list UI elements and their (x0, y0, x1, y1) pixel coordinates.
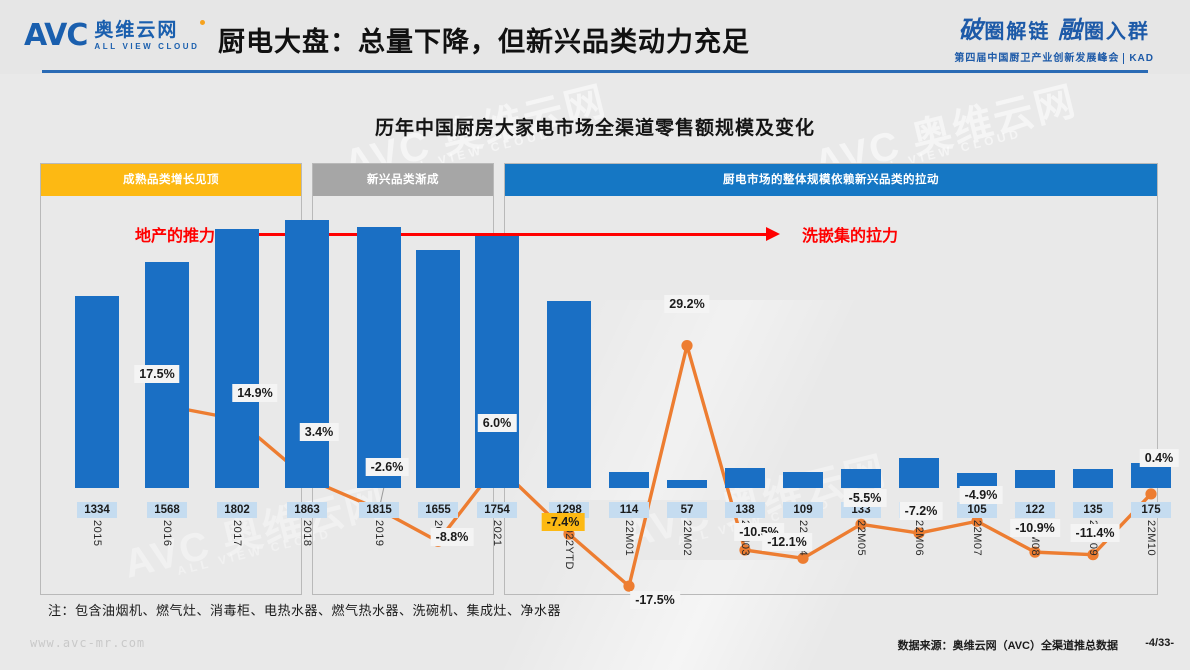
bar-value-label: 175 (1131, 502, 1171, 518)
category-label-wrap: 2021 (475, 520, 519, 574)
bar-value-label: 138 (725, 502, 765, 518)
category-label: 22M07 (971, 520, 983, 556)
bar-value-label: 105 (957, 502, 997, 518)
category-label-wrap: 22M05 (841, 520, 881, 574)
category-label: 22M05 (855, 520, 867, 556)
category-label: 2021 (491, 520, 503, 546)
bar (75, 296, 119, 488)
category-label: 2018 (301, 520, 313, 546)
bar (899, 458, 939, 488)
category-label: 22M10 (1145, 520, 1157, 556)
bar-column: 5722M02 (667, 200, 707, 580)
bar (1073, 469, 1113, 488)
category-label-wrap: 22M10 (1131, 520, 1171, 574)
avc-logo-dot-icon (200, 20, 205, 25)
bar-column: 18632018 (285, 200, 329, 580)
bar-column: 17522M10 (1131, 200, 1171, 580)
percent-label: -7.2% (900, 502, 943, 520)
header-divider (42, 70, 1148, 73)
summit-slogan-char-rong: 融 (1058, 17, 1084, 44)
chart-title: 历年中国厨房大家电市场全渠道零售额规模及变化 (0, 113, 1190, 140)
avc-logo-english: ALL VIEW CLOUD (94, 43, 199, 51)
chart-plot-area: 1334201515682016180220171863201818152019… (40, 200, 1158, 580)
bar-column: 13342015 (75, 200, 119, 580)
chart-note: 注：包含油烟机、燃气灶、消毒柜、电热水器、燃气热水器、洗碗机、集成灶、净水器 (48, 600, 561, 619)
percent-label: 6.0% (478, 414, 517, 432)
category-label-wrap: 2018 (285, 520, 329, 574)
percent-label: 0.4% (1140, 449, 1179, 467)
bar-value-label: 1863 (287, 502, 327, 518)
panel-mature-header: 成熟品类增长见顶 (41, 164, 301, 196)
category-label-wrap: 22M06 (899, 520, 939, 574)
bar (547, 301, 591, 488)
percent-label: -7.4% (542, 513, 585, 531)
category-label-wrap: 22M01 (609, 520, 649, 574)
percent-label: -10.9% (1010, 519, 1060, 537)
line-data-point (623, 581, 634, 592)
bar (841, 469, 881, 488)
panel-emerging-header: 新兴品类渐成 (313, 164, 493, 196)
percent-label: -2.6% (366, 458, 409, 476)
bar (1015, 470, 1055, 488)
percent-label: -17.5% (630, 591, 680, 609)
category-label: 2015 (91, 520, 103, 546)
summit-name: 第四届中国厨卫产业创新发展峰会KAD (954, 49, 1154, 64)
percent-label: 29.2% (664, 295, 709, 313)
bar-value-label: 1754 (477, 502, 517, 518)
bar-column: 17542021 (475, 200, 519, 580)
summit-slogan: 破圈解链 融圈入群 (954, 10, 1154, 45)
bar-column: 16552020 (416, 200, 460, 580)
bar (215, 229, 259, 488)
footer-page-number: -4/33- (1145, 637, 1174, 649)
avc-logo-text: 奥维云网 ALL VIEW CLOUD (94, 21, 199, 51)
panel-overall-header: 厨电市场的整体规模依赖新兴品类的拉动 (505, 164, 1157, 196)
footer-source: 数据来源：奥维云网（AVC）全渠道推总数据 (898, 637, 1118, 653)
page-header: AVC 奥维云网 ALL VIEW CLOUD 厨电大盘：总量下降，但新兴品类动… (0, 0, 1190, 74)
bar (285, 220, 329, 488)
bar-column: 18152019 (357, 200, 401, 580)
avc-logo: AVC 奥维云网 ALL VIEW CLOUD (24, 18, 200, 53)
bar (783, 472, 823, 488)
percent-label: -12.1% (762, 533, 812, 551)
bar-value-label: 1568 (147, 502, 187, 518)
percent-label: -8.8% (431, 528, 474, 546)
bar-column: 20922M06 (899, 200, 939, 580)
category-label-wrap: 2019 (357, 520, 401, 574)
category-label-wrap: 2016 (145, 520, 189, 574)
bar-value-label: 135 (1073, 502, 1113, 518)
bar-value-label: 57 (667, 502, 707, 518)
category-label-wrap: 22M07 (957, 520, 997, 574)
bar-column: 11422M01 (609, 200, 649, 580)
bar (416, 250, 460, 488)
bar-column: 13322M05 (841, 200, 881, 580)
category-label: 2017 (231, 520, 243, 546)
percent-label: 3.4% (300, 423, 339, 441)
category-label: 22M01 (623, 520, 635, 556)
bar-column: 15682016 (145, 200, 189, 580)
bar-value-label: 114 (609, 502, 649, 518)
bar-value-label: 109 (783, 502, 823, 518)
bar-value-label: 1655 (418, 502, 458, 518)
bar (667, 480, 707, 488)
category-label-wrap: 2017 (215, 520, 259, 574)
bar-value-label: 1802 (217, 502, 257, 518)
percent-label: -4.9% (960, 486, 1003, 504)
bar (725, 468, 765, 488)
category-label: 22M06 (913, 520, 925, 556)
percent-label: -5.5% (844, 489, 887, 507)
category-label-wrap: 2015 (75, 520, 119, 574)
kad-logo: KAD (1123, 53, 1154, 64)
bar (609, 472, 649, 488)
summit-slogan-part1: 圈解链 (984, 21, 1050, 43)
category-label-wrap: 22M02 (667, 520, 707, 574)
summit-branding: 破圈解链 融圈入群 第四届中国厨卫产业创新发展峰会KAD (954, 10, 1154, 64)
summit-name-text: 第四届中国厨卫产业创新发展峰会 (954, 53, 1119, 64)
footer-url: www.avc-mr.com (30, 636, 145, 650)
avc-logo-chinese: 奥维云网 (94, 21, 199, 40)
bar-column: 10922M04 (783, 200, 823, 580)
page-title: 厨电大盘：总量下降，但新兴品类动力充足 (218, 20, 750, 59)
bar (357, 227, 401, 488)
category-label: 2019 (373, 520, 385, 546)
bar (475, 236, 519, 488)
bar-value-label: 122 (1015, 502, 1055, 518)
percent-label: 14.9% (232, 384, 277, 402)
bar-value-label: 1815 (359, 502, 399, 518)
category-label: 2016 (161, 520, 173, 546)
percent-label: -11.4% (1071, 524, 1120, 542)
avc-logo-mark: AVC (24, 18, 87, 53)
summit-slogan-part2: 圈入群 (1084, 21, 1150, 43)
bar-column: 10522M07 (957, 200, 997, 580)
bar-value-label: 1334 (77, 502, 117, 518)
category-label: 22M02 (681, 520, 693, 556)
percent-label: 17.5% (134, 365, 179, 383)
summit-slogan-char-po: 破 (958, 17, 984, 44)
